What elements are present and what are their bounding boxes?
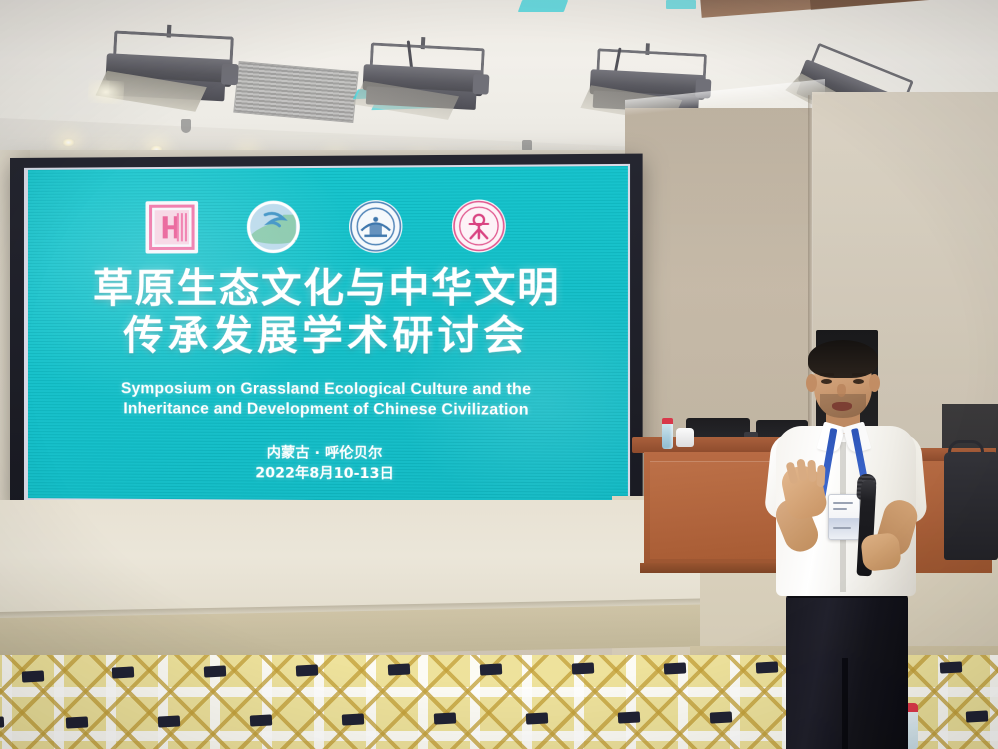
presenter-mouth [832,402,852,411]
carpet-diamond [434,712,457,724]
presenter-hair [808,340,878,378]
carpet-diamond [66,716,89,728]
carpet-diamond [0,716,4,728]
presenter-eye-right [853,379,864,384]
institute-seal-logo [452,199,506,252]
water-bottle[interactable] [662,423,673,449]
presenter-ear-right [869,374,880,392]
presenter-eyebrow-left [820,373,834,376]
carpet-diamond [710,711,733,723]
screen-title-chinese-line2: 传承发展学术研讨会 [28,312,628,360]
carpet-diamond [296,664,319,676]
led-screen-display[interactable]: 草原生态文化与中华文明 传承发展学术研讨会 Symposium on Grass… [28,166,628,502]
seal-square-logo [146,201,199,254]
presenter-eye-left [821,379,832,384]
banner-reflection [518,0,568,12]
carpet-diamond [204,665,227,677]
university-emblem-logo [349,200,402,253]
presenter-person [758,338,958,749]
tissue-box[interactable] [676,428,694,447]
stage-light-knob [472,74,489,95]
screen-title-chinese: 草原生态文化与中华文明 传承发展学术研讨会 [28,264,628,360]
carpet-diamond [250,714,273,726]
logo-row [28,199,628,254]
badge-text-line [833,502,853,504]
screen-title-english-line1: Symposium on Grassland Ecological Cultur… [28,379,628,400]
carpet-diamond [22,670,45,682]
screen-title-english-line2: Inheritance and Development of Chinese C… [28,399,628,421]
screen-event-meta: 内蒙古 · 呼伦贝尔 2022年8月10-13日 [28,442,628,486]
presenter-eyebrow-right [852,373,866,376]
screen-event-dates: 2022年8月10-13日 [28,462,628,486]
screen-title-chinese-line1: 草原生态文化与中华文明 [93,265,560,312]
carpet-diamond [526,712,549,724]
carpet-diamond [388,663,411,675]
conference-photo-scene: 草原生态文化与中华文明 传承发展学术研讨会 Symposium on Grass… [0,0,998,749]
banner-reflection [666,0,696,9]
ceiling-sensor [181,119,191,133]
carpet-diamond [480,663,503,675]
stage-light-glow [87,80,124,105]
presenter-finger [807,460,817,483]
recessed-downlight [62,138,75,147]
carpet-diamond [158,715,181,727]
screen-title-english: Symposium on Grassland Ecological Cultur… [28,379,628,420]
presenter-nose [837,384,846,397]
badge-text-line [833,527,851,529]
conference-badge [828,494,860,540]
led-screen-frame: 草原生态文化与中华文明 传承发展学术研讨会 Symposium on Grass… [10,154,643,515]
water-bottle-cap [662,418,673,424]
presenter-hand-right [860,532,902,572]
badge-text-line [833,508,847,510]
ceiling-wood-beam-secondary [810,0,998,10]
wave-landscape-logo [247,200,300,253]
carpet-diamond [966,710,989,722]
presenter-finger [816,465,825,487]
presenter-ear-left [806,374,817,392]
ceiling-air-vent [233,61,358,123]
carpet-diamond [342,713,365,725]
carpet-diamond [664,662,687,674]
carpet-diamond [618,711,641,723]
stage-light-knob [221,63,239,85]
presenter-trouser-seam [842,658,848,749]
carpet-diamond [112,666,135,678]
carpet-diamond [572,662,595,674]
